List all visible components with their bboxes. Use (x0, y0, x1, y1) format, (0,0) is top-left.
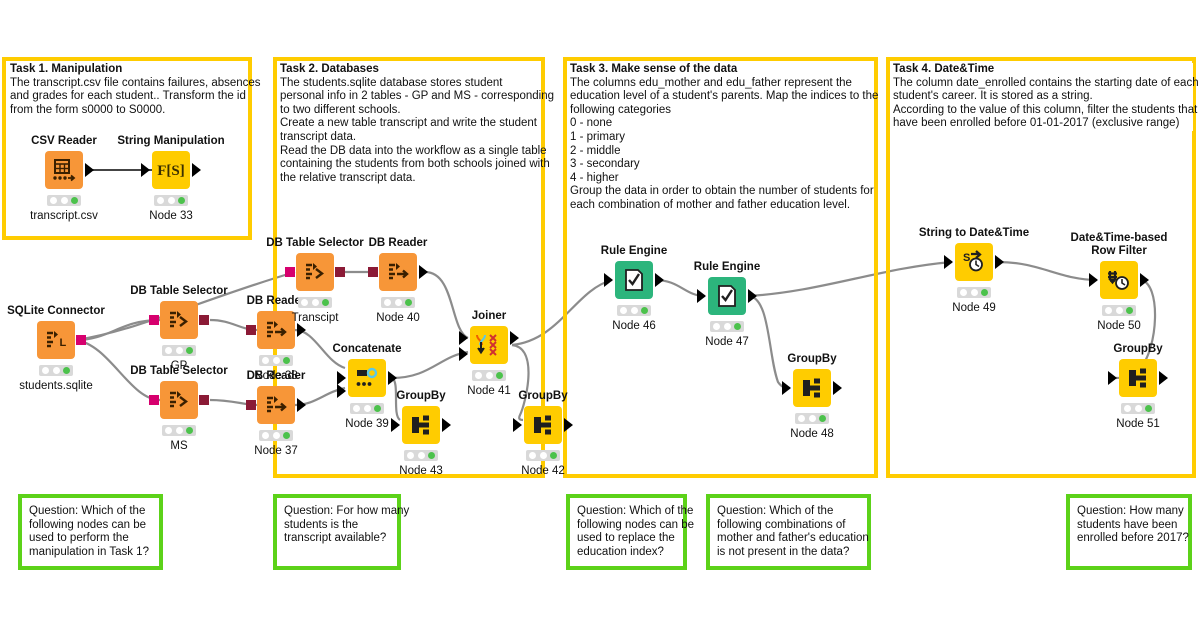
task-note-line: containing the students from both school… (280, 158, 540, 172)
node-label: Node 41 (467, 385, 510, 397)
node-input-port[interactable] (391, 418, 400, 432)
node-db-input-port[interactable] (246, 400, 256, 410)
node-groupby-51[interactable]: GroupBy Node 51 (1119, 359, 1157, 397)
node-concatenate-39[interactable]: Concatenate Node 39 (348, 359, 386, 397)
node-status-bar (404, 450, 438, 461)
concatenate-icon[interactable] (348, 359, 386, 397)
question-line: mother and father's education (717, 532, 860, 546)
node-db-output-port[interactable] (199, 315, 209, 325)
node-rule-engine-47[interactable]: Rule Engine Node 47 (708, 277, 746, 315)
node-output-port[interactable] (419, 265, 428, 279)
node-output-port[interactable] (995, 255, 1004, 269)
node-input-port[interactable] (782, 381, 791, 395)
node-label: Node 33 (149, 210, 192, 222)
question-line: Question: Which of the (717, 505, 860, 519)
node-output-port[interactable] (833, 381, 842, 395)
node-title: DB Reader (369, 237, 428, 250)
node-output-port[interactable] (510, 331, 519, 345)
node-label: Node 39 (345, 418, 388, 430)
node-status-bar (710, 321, 744, 332)
node-output-port[interactable] (85, 163, 94, 177)
db-reader-icon[interactable] (257, 386, 295, 424)
node-label: MS (170, 440, 187, 452)
question-line: Question: For how many (284, 505, 390, 519)
node-title: String Manipulation (117, 135, 224, 148)
question-box-3[interactable]: Question: Which of the following nodes c… (566, 494, 687, 570)
task-note-line: 4 - higher (570, 172, 873, 186)
node-label: Node 40 (376, 312, 419, 324)
task-note-line: from the form s0000 to S0000. (10, 104, 246, 118)
node-groupby-43[interactable]: GroupBy Node 43 (402, 406, 440, 444)
node-joiner-41[interactable]: Joiner Node 41 (470, 326, 508, 364)
node-db-input-port[interactable] (149, 395, 159, 405)
task-note-line: the relative transcript data. (280, 172, 540, 186)
node-title: Rule Engine (601, 245, 667, 258)
node-sqlite-connector[interactable]: SQLite Connector L students.sqlite (37, 321, 75, 359)
node-output-port[interactable] (1140, 273, 1149, 287)
svg-text:S: S (963, 252, 970, 264)
node-input-port-top[interactable] (459, 331, 468, 345)
question-line: Question: Which of the (29, 505, 152, 519)
question-box-2[interactable]: Question: For how many students is the t… (273, 494, 401, 570)
node-title: DB Table Selector (130, 285, 228, 298)
node-input-port[interactable] (1108, 371, 1117, 385)
node-label: Node 51 (1116, 418, 1159, 430)
node-label: Node 50 (1097, 320, 1140, 332)
task-note-line: following categories (570, 104, 873, 118)
question-line: following nodes can be (577, 519, 676, 533)
node-string-manipulation[interactable]: String Manipulation F[S] Node 33 (152, 151, 190, 189)
task-note-line: The transcript.csv file contains failure… (10, 77, 246, 91)
task-note-line: According to the value of this column, f… (893, 104, 1193, 118)
question-line: Question: Which of the (577, 505, 676, 519)
node-status-bar (795, 413, 829, 424)
node-db-input-port[interactable] (149, 315, 159, 325)
node-title: Concatenate (332, 343, 401, 356)
node-label: Node 47 (705, 336, 748, 348)
node-input-port-bottom[interactable] (337, 384, 346, 398)
question-line: following nodes can be (29, 519, 152, 533)
node-db-reader-38[interactable]: DB Reader Node 38 (257, 311, 295, 349)
node-label: students.sqlite (19, 380, 93, 392)
sqlite-connector-icon[interactable]: L (37, 321, 75, 359)
task-note-line: The students.sqlite database stores stud… (280, 77, 540, 91)
node-title: GroupBy (1113, 343, 1162, 356)
question-line: education index? (577, 546, 676, 560)
node-status-bar (154, 195, 188, 206)
task-note-line: The column date_enrolled contains the st… (893, 77, 1193, 91)
node-string-to-datetime-49[interactable]: String to Date&Time S Node 49 (955, 243, 993, 281)
workflow-canvas[interactable]: Task 1. Manipulation The transcript.csv … (0, 0, 1200, 630)
node-title: GroupBy (787, 353, 836, 366)
question-line: manipulation in Task 1? (29, 546, 152, 560)
task-note-line: 0 - none (570, 117, 873, 131)
question-line: students have been (1077, 519, 1181, 533)
task-note-line: transcript data. (280, 131, 540, 145)
node-status-bar (298, 297, 332, 308)
node-groupby-48[interactable]: GroupBy Node 48 (793, 369, 831, 407)
node-input-port[interactable] (513, 418, 522, 432)
node-status-bar (39, 365, 73, 376)
node-db-table-selector-gp[interactable]: DB Table Selector GP (160, 301, 198, 339)
node-db-input-port[interactable] (368, 267, 378, 277)
node-label: Node 37 (254, 445, 297, 457)
node-input-port-bottom[interactable] (459, 347, 468, 361)
node-db-output-port[interactable] (199, 395, 209, 405)
svg-text:L: L (60, 337, 67, 349)
node-input-port[interactable] (697, 289, 706, 303)
task-note-line: have been enrolled before 01-01-2017 (ex… (893, 117, 1193, 131)
node-label: Transcipt (292, 312, 339, 324)
node-title: GroupBy (518, 390, 567, 403)
task-note-line: Create a new table transcript and write … (280, 117, 540, 131)
node-db-input-port[interactable] (285, 267, 295, 277)
task-note-line: personal info in 2 tables - GP and MS - … (280, 90, 540, 104)
node-title: SQLite Connector (7, 305, 105, 318)
node-status-bar (1102, 305, 1136, 316)
node-output-port[interactable] (655, 273, 664, 287)
task-note-4: Task 4. Date&Time The column date_enroll… (893, 63, 1193, 131)
task-note-line: and grades for each student.. Transform … (10, 90, 246, 104)
node-output-port[interactable] (1159, 371, 1168, 385)
task-title: Task 2. Databases (280, 63, 540, 77)
node-rule-engine-46[interactable]: Rule Engine Node 46 (615, 261, 653, 299)
string-manipulation-icon[interactable]: F[S] (152, 151, 190, 189)
node-status-bar (162, 425, 196, 436)
node-title: DB Table Selector (266, 237, 364, 250)
groupby-icon[interactable] (402, 406, 440, 444)
node-title: Rule Engine (694, 261, 760, 274)
node-input-port[interactable] (604, 273, 613, 287)
task-note-line: Read the DB data into the workflow as a … (280, 145, 540, 159)
groupby-icon[interactable] (524, 406, 562, 444)
question-box-1[interactable]: Question: Which of the following nodes c… (18, 494, 163, 570)
node-input-port[interactable] (141, 163, 150, 177)
node-db-output-port[interactable] (335, 267, 345, 277)
question-box-4[interactable]: Question: Which of the following combina… (706, 494, 871, 570)
node-title: GroupBy (396, 390, 445, 403)
task-note-line: education level of a student's parents. … (570, 90, 873, 104)
task-note-line: 3 - secondary (570, 158, 873, 172)
task-title: Task 3. Make sense of the data (570, 63, 873, 77)
node-input-port-top[interactable] (337, 371, 346, 385)
node-csv-reader[interactable]: CSV Reader transcript.csv (45, 151, 83, 189)
node-input-port[interactable] (1089, 273, 1098, 287)
node-status-bar (526, 450, 560, 461)
rule-engine-icon[interactable] (708, 277, 746, 315)
node-db-reader-40[interactable]: DB Reader Node 40 (379, 253, 417, 291)
node-status-bar (259, 355, 293, 366)
question-line: students is the (284, 519, 390, 533)
node-label: transcript.csv (30, 210, 98, 222)
task-note-line: to two different schools. (280, 104, 540, 118)
node-db-output-port[interactable] (76, 335, 86, 345)
node-output-port[interactable] (442, 418, 451, 432)
db-table-selector-icon[interactable] (296, 253, 334, 291)
node-title: String to Date&Time (919, 227, 1029, 240)
node-output-port[interactable] (192, 163, 201, 177)
node-title: CSV Reader (31, 135, 97, 148)
node-db-table-selector-ms[interactable]: DB Table Selector MS (160, 381, 198, 419)
node-label: Node 46 (612, 320, 655, 332)
db-table-selector-icon[interactable] (160, 381, 198, 419)
db-reader-icon[interactable] (257, 311, 295, 349)
node-status-bar (472, 370, 506, 381)
node-status-bar (47, 195, 81, 206)
svg-text:F[S]: F[S] (157, 163, 185, 179)
node-title: DB Table Selector (130, 365, 228, 378)
node-title: Joiner (472, 310, 507, 323)
question-line: used to perform the (29, 532, 152, 546)
task-note-2: Task 2. Databases The students.sqlite da… (280, 63, 540, 185)
node-datetime-row-filter-50[interactable]: Date&Time-based Row Filter Node 50 (1100, 261, 1138, 299)
csv-reader-icon[interactable] (45, 151, 83, 189)
node-title: DB Reader (247, 370, 306, 383)
node-status-bar (350, 403, 384, 414)
node-output-port[interactable] (748, 289, 757, 303)
groupby-icon[interactable] (793, 369, 831, 407)
node-db-input-port[interactable] (246, 325, 256, 335)
task-title: Task 4. Date&Time (893, 63, 1193, 77)
task-note-3: Task 3. Make sense of the data The colum… (570, 63, 873, 213)
db-reader-icon[interactable] (379, 253, 417, 291)
question-line: enrolled before 2017? (1077, 532, 1181, 546)
node-output-port[interactable] (564, 418, 573, 432)
node-title: Date&Time-based Row Filter (1064, 232, 1174, 258)
task-note-line: each combination of mother and father ed… (570, 199, 873, 213)
node-groupby-42[interactable]: GroupBy Node 42 (524, 406, 562, 444)
db-table-selector-icon[interactable] (160, 301, 198, 339)
node-status-bar (259, 430, 293, 441)
question-line: is not present in the data? (717, 546, 860, 560)
task-note-line: 1 - primary (570, 131, 873, 145)
task-note-line: Group the data in order to obtain the nu… (570, 185, 873, 199)
node-status-bar (617, 305, 651, 316)
task-note-1: Task 1. Manipulation The transcript.csv … (10, 63, 246, 117)
node-status-bar (957, 287, 991, 298)
node-status-bar (1121, 403, 1155, 414)
task-title: Task 1. Manipulation (10, 63, 246, 77)
task-note-line: The columns edu_mother and edu_father re… (570, 77, 873, 91)
node-title: DB Reader (247, 295, 306, 308)
node-label: Node 49 (952, 302, 995, 314)
groupby-icon[interactable] (1119, 359, 1157, 397)
task-note-line: 2 - middle (570, 145, 873, 159)
question-line: following combinations of (717, 519, 860, 533)
rule-engine-icon[interactable] (615, 261, 653, 299)
node-input-port[interactable] (944, 255, 953, 269)
joiner-icon[interactable] (470, 326, 508, 364)
question-box-5[interactable]: Question: How many students have been en… (1066, 494, 1192, 570)
datetime-row-filter-icon[interactable] (1100, 261, 1138, 299)
node-output-port[interactable] (297, 323, 306, 337)
node-db-reader-37[interactable]: DB Reader Node 37 (257, 386, 295, 424)
node-label: Node 42 (521, 465, 564, 477)
question-line: transcript available? (284, 532, 390, 546)
string-to-datetime-icon[interactable]: S (955, 243, 993, 281)
node-output-port[interactable] (388, 371, 397, 385)
node-status-bar (162, 345, 196, 356)
node-output-port[interactable] (297, 398, 306, 412)
question-line: used to replace the (577, 532, 676, 546)
node-label: Node 43 (399, 465, 442, 477)
node-label: Node 48 (790, 428, 833, 440)
node-status-bar (381, 297, 415, 308)
task-note-line: student's career. It is stored as a stri… (893, 90, 1193, 104)
question-line: Question: How many (1077, 505, 1181, 519)
node-db-table-selector-transcipt[interactable]: DB Table Selector Transcipt (296, 253, 334, 291)
